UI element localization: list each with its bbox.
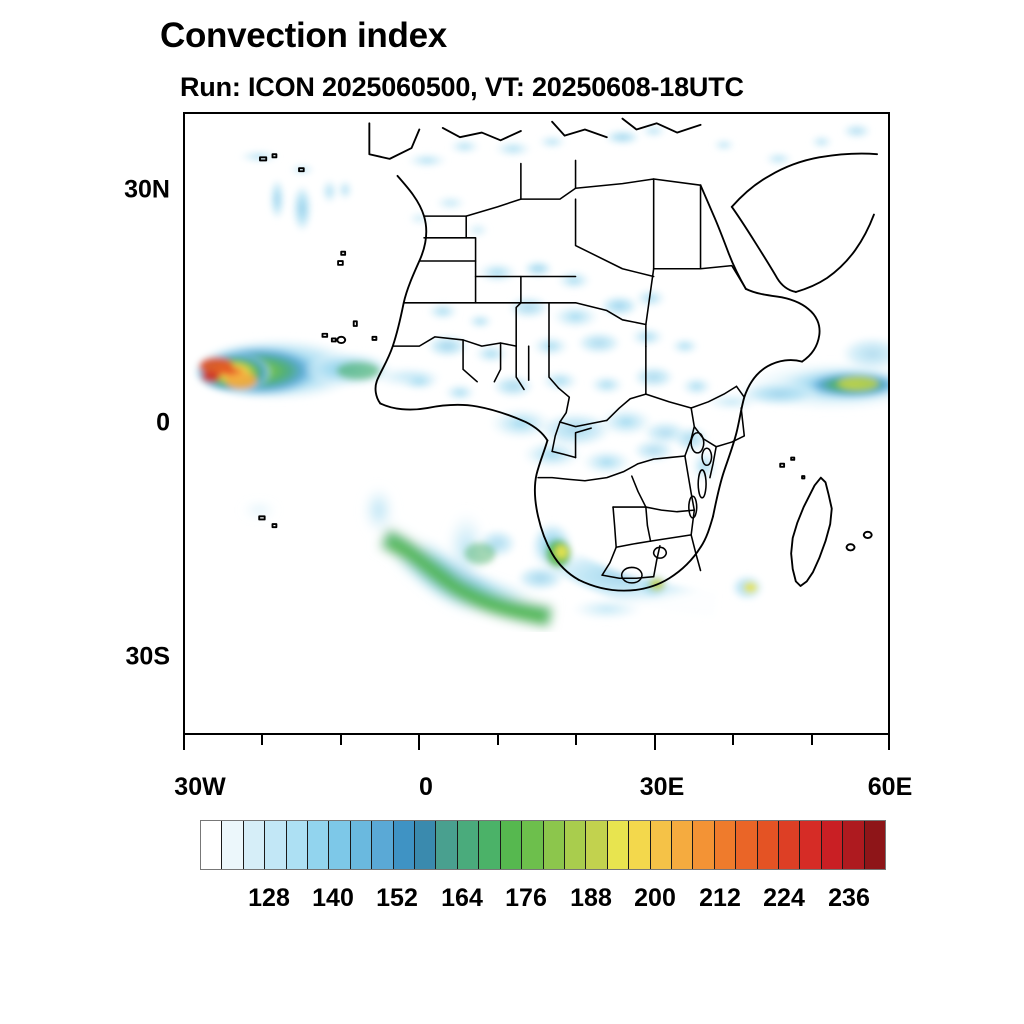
colorbar-cell-160 — [415, 821, 436, 869]
colorbar-cell-172 — [479, 821, 500, 869]
colorbar-cell-176 — [501, 821, 522, 869]
colorbar-cell-208 — [672, 821, 693, 869]
colorbar-cell-164 — [436, 821, 457, 869]
colorbar-cell-192 — [586, 821, 607, 869]
colorbar-label-200: 200 — [634, 884, 676, 913]
y-axis-label-0: 0 — [100, 409, 170, 438]
colorbar-label-176: 176 — [505, 884, 547, 913]
colorbar-cell-188 — [565, 821, 586, 869]
colorbar-label-152: 152 — [376, 884, 418, 913]
colorbar — [200, 820, 886, 870]
colorbar-cell-128 — [244, 821, 265, 869]
y-tick-10s — [183, 503, 185, 505]
colorbar-cell-232 — [800, 821, 821, 869]
colorbar-label-236: 236 — [828, 884, 870, 913]
page-title: Convection index — [160, 16, 447, 56]
colorbar-label-128: 128 — [248, 884, 290, 913]
x-tick-60e — [888, 735, 890, 750]
y-tick-0 — [183, 425, 185, 427]
colorbar-label-212: 212 — [699, 884, 741, 913]
y-tick-10n — [183, 348, 185, 350]
x-axis-label-60e: 60E — [868, 773, 912, 802]
colorbar-cell-200 — [629, 821, 650, 869]
y-axis-label-30n: 30N — [100, 176, 170, 205]
colorbar-cell-132 — [265, 821, 286, 869]
x-tick-50e — [811, 735, 813, 745]
colorbar-label-164: 164 — [441, 884, 483, 913]
colorbar-cell-148 — [351, 821, 372, 869]
y-tick-30n — [183, 192, 185, 194]
colorbar-cell-212 — [693, 821, 714, 869]
y-axis-label-30s: 30S — [100, 643, 170, 672]
colorbar-cell-204 — [651, 821, 672, 869]
x-axis-label-0: 0 — [419, 773, 433, 802]
x-tick-20e — [575, 735, 577, 745]
colorbar-cell-180 — [522, 821, 543, 869]
x-tick-30e — [654, 735, 656, 750]
colorbar-cell-124 — [222, 821, 243, 869]
y-tick-20n — [183, 270, 185, 272]
x-axis-label-30w: 30W — [174, 773, 225, 802]
colorbar-label-224: 224 — [763, 884, 805, 913]
x-tick-30w — [183, 735, 185, 750]
colorbar-cell-156 — [394, 821, 415, 869]
x-tick-0 — [418, 735, 420, 750]
x-tick-10w — [340, 735, 342, 745]
y-tick-30s — [183, 659, 185, 661]
y-tick-20s — [183, 581, 185, 583]
x-tick-40e — [732, 735, 734, 745]
colorbar-cell-168 — [458, 821, 479, 869]
map-plot-area — [183, 112, 890, 735]
chart-page: Convection index Run: ICON 2025060500, V… — [0, 0, 1024, 1024]
colorbar-cell-120 — [201, 821, 222, 869]
colorbar-cell-236 — [822, 821, 843, 869]
x-tick-10e — [497, 735, 499, 745]
colorbar-cell-196 — [608, 821, 629, 869]
x-axis-label-30e: 30E — [640, 773, 684, 802]
page-subtitle: Run: ICON 2025060500, VT: 20250608-18UTC — [180, 72, 744, 103]
colorbar-cell-136 — [287, 821, 308, 869]
x-tick-20w — [261, 735, 263, 745]
map-canvas — [185, 114, 888, 733]
colorbar-cell-216 — [715, 821, 736, 869]
colorbar-label-140: 140 — [312, 884, 354, 913]
colorbar-cell-184 — [544, 821, 565, 869]
colorbar-cell-244 — [865, 821, 885, 869]
colorbar-cell-144 — [329, 821, 350, 869]
colorbar-cell-224 — [758, 821, 779, 869]
colorbar-cell-240 — [843, 821, 864, 869]
colorbar-cell-228 — [779, 821, 800, 869]
colorbar-cell-152 — [372, 821, 393, 869]
colorbar-label-188: 188 — [570, 884, 612, 913]
colorbar-cell-220 — [736, 821, 757, 869]
colorbar-cell-140 — [308, 821, 329, 869]
